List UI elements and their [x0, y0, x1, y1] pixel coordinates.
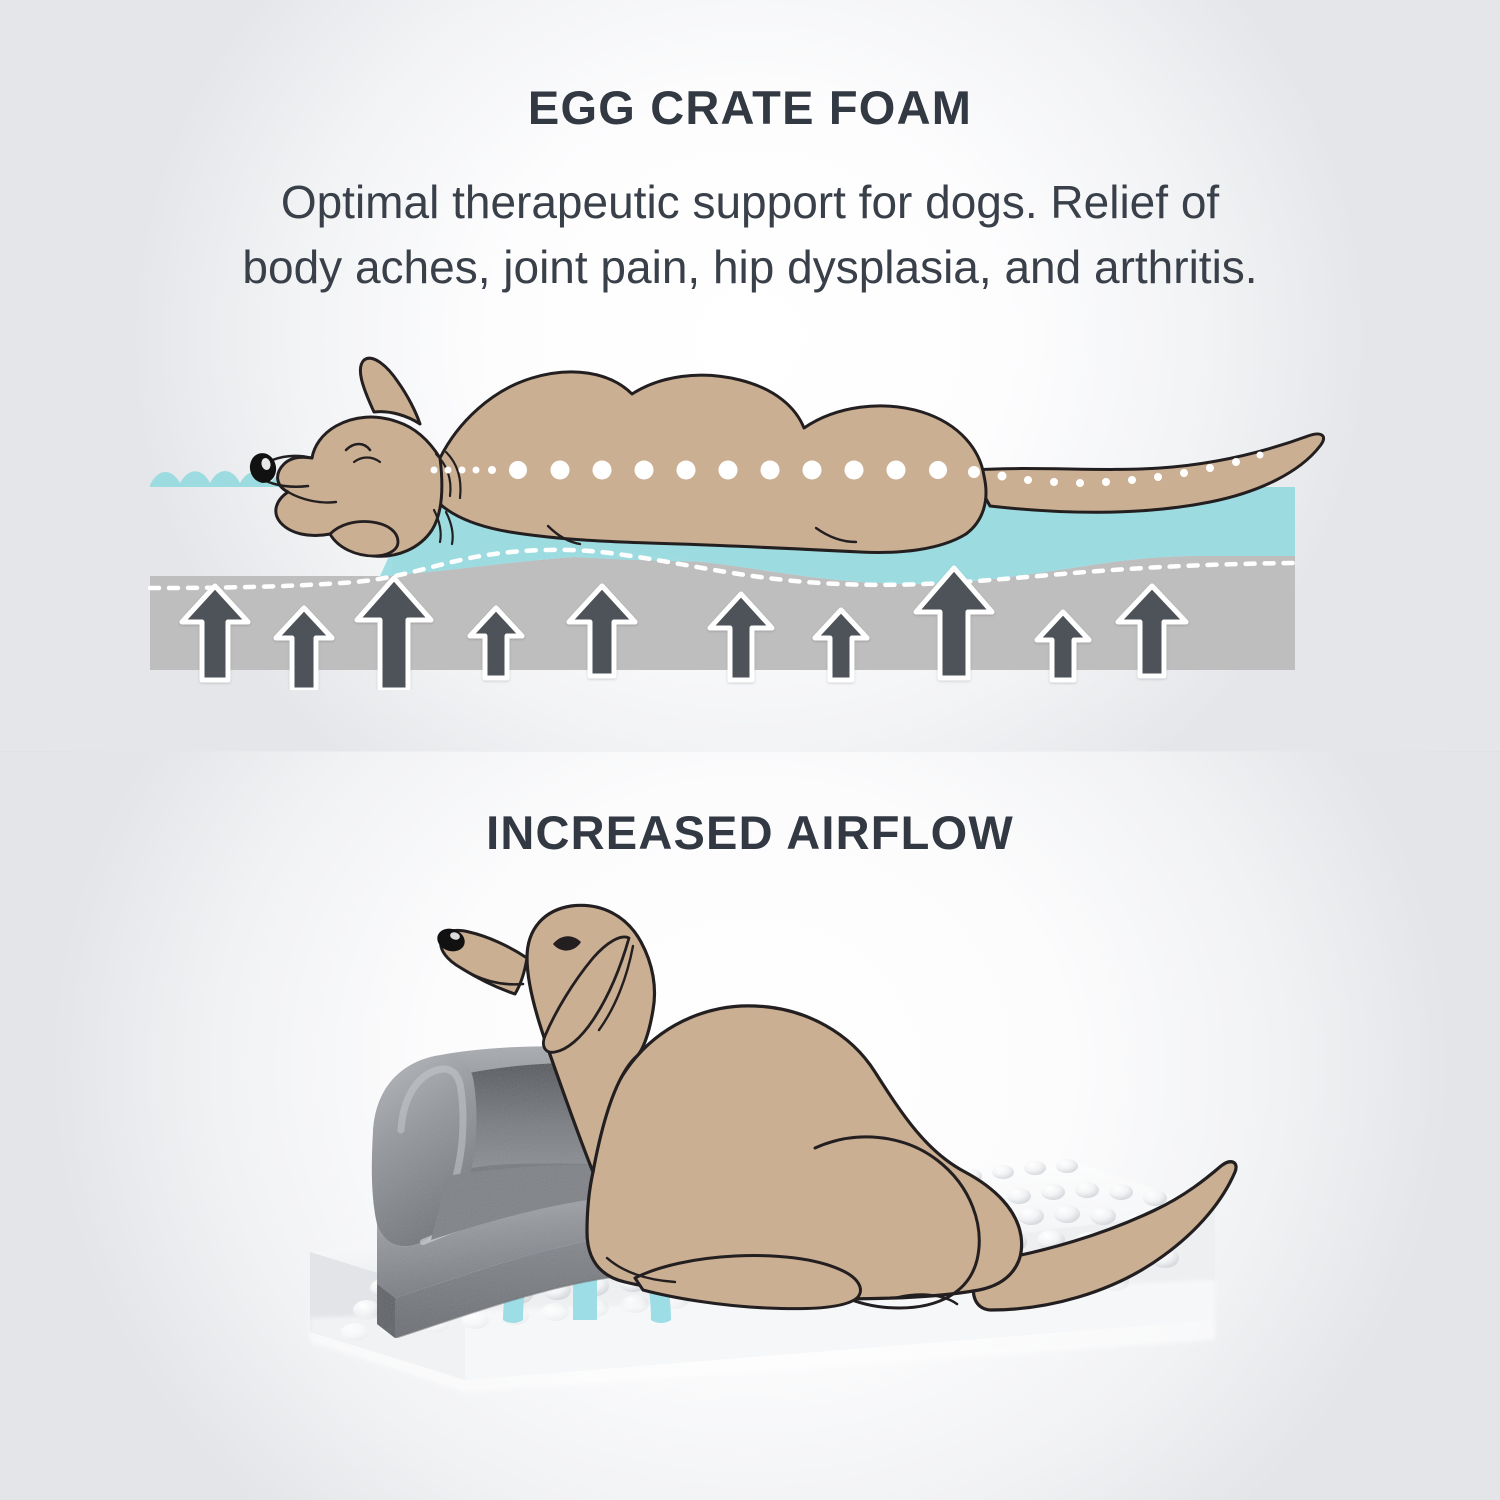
page-title-increased-airflow: INCREASED AIRFLOW: [0, 805, 1500, 860]
page-title-egg-crate-foam: EGG CRATE FOAM: [0, 80, 1500, 135]
infographic-page: EGG CRATE FOAM Optimal therapeutic suppo…: [0, 0, 1500, 1500]
illustration-dog-on-bolster-bed: [255, 880, 1265, 1440]
illustration-dog-on-foam-cross-section: [140, 350, 1370, 690]
subtitle-line-1: Optimal therapeutic support for dogs. Re…: [50, 170, 1450, 235]
panel-increased-airflow: INCREASED AIRFLOW: [0, 752, 1500, 1500]
subtitle-line-2: body aches, joint pain, hip dysplasia, a…: [50, 235, 1450, 300]
panel-egg-crate-foam: EGG CRATE FOAM Optimal therapeutic suppo…: [0, 0, 1500, 752]
subtitle-text-block: Optimal therapeutic support for dogs. Re…: [50, 170, 1450, 301]
